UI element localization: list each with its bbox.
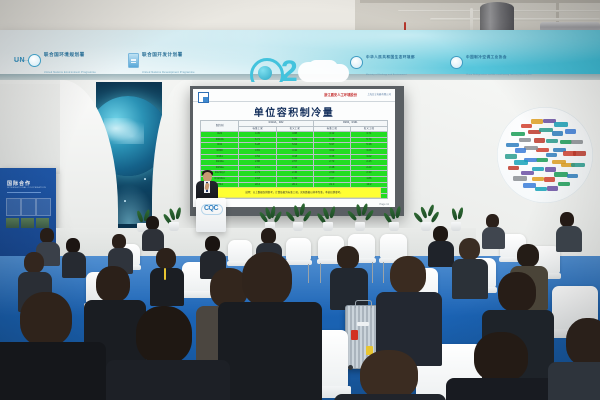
panel-title: 国际合作 bbox=[7, 180, 31, 187]
booth-header-banner: UN 联合国环境规划署 United Nations Environment P… bbox=[0, 30, 600, 82]
slide-header: 浙江盾安人工环境股份 上海日立电器有限公司 bbox=[193, 89, 395, 102]
ministry-name-en: Ministry of Ecology and Environment bbox=[366, 74, 407, 76]
association-name-cn: 中国制冷空调工业协会 bbox=[466, 55, 507, 59]
partner-logo-icon bbox=[567, 174, 578, 178]
plant-pot bbox=[169, 222, 179, 231]
potted-plant bbox=[290, 203, 306, 231]
partner-logo-icon bbox=[523, 183, 536, 187]
partner-logo-icon bbox=[521, 124, 532, 128]
partner-logo-icon bbox=[554, 122, 568, 126]
undp-logo-group: 联合国开发计划署 United Nations Development Prog… bbox=[128, 44, 195, 78]
table-head: 制冷剂 R410A、R32 R290、R161 标准工况 名义工况 标准工况 名… bbox=[201, 121, 388, 132]
partner-logo-icon bbox=[535, 187, 547, 191]
panel-text-block bbox=[36, 198, 51, 216]
booth-left-wall bbox=[0, 84, 60, 174]
partner-logo-icon bbox=[531, 119, 543, 123]
suitcase-sticker-red bbox=[351, 330, 358, 340]
ministry-logo-group: 中华人民共和国生态环境部 Ministry of Ecology and Env… bbox=[350, 46, 415, 80]
plant-pot bbox=[389, 222, 399, 231]
association-logo-group: 中国制冷空调工业协会 China Refrigeration and Air-c… bbox=[450, 46, 532, 80]
panel-divider bbox=[7, 192, 41, 193]
slide-corp-name-cn: 浙江盾安人工环境股份 bbox=[324, 92, 357, 97]
partner-logo-icon bbox=[524, 146, 538, 150]
panel-subtitle: INTERNATIONAL COOPERATION bbox=[7, 187, 46, 189]
panel-text-block bbox=[21, 198, 36, 216]
projection-screen-frame: 浙江盾安人工环境股份 上海日立电器有限公司 单位容积制冷量 制冷剂 R410A、… bbox=[190, 86, 404, 216]
partner-logo-icon bbox=[532, 167, 544, 171]
association-logo-icon bbox=[450, 56, 463, 69]
presentation-slide: 浙江盾安人工环境股份 上海日立电器有限公司 单位容积制冷量 制冷剂 R410A、… bbox=[193, 89, 395, 207]
panel-photo bbox=[36, 218, 49, 228]
cloud-icon bbox=[298, 62, 332, 82]
partner-logo-icon bbox=[532, 177, 544, 181]
suitcase-handle bbox=[355, 300, 372, 308]
partner-logo-icon bbox=[571, 163, 585, 167]
partner-logo-icon bbox=[514, 160, 528, 164]
partner-logo-icon bbox=[536, 158, 548, 162]
plant-pot bbox=[355, 222, 365, 231]
ministry-name-cn: 中华人民共和国生态环境部 bbox=[366, 55, 415, 59]
undp-name-en: United Nations Development Programme bbox=[142, 71, 195, 74]
un-emblem-icon bbox=[28, 54, 41, 67]
page-label: Page bbox=[380, 203, 386, 206]
plant-pot bbox=[421, 222, 431, 231]
un-logo-icon: UN bbox=[14, 57, 25, 64]
suitcase-wheel bbox=[348, 365, 353, 370]
partner-logo-icon bbox=[565, 129, 576, 133]
partner-logo-icon bbox=[521, 171, 534, 175]
lanyard bbox=[164, 268, 166, 280]
association-name-en: China Refrigeration and Air-conditioning… bbox=[466, 74, 532, 76]
unep-logo-group: UN 联合国环境规划署 United Nations Environment P… bbox=[14, 44, 96, 78]
partner-logo-wall bbox=[497, 107, 593, 203]
partner-logo-icon bbox=[552, 131, 563, 135]
o2o-digit: 2 bbox=[281, 57, 298, 82]
company-logo-icon bbox=[198, 92, 209, 103]
partner-logo-icon bbox=[515, 148, 526, 152]
partner-logo-icon bbox=[519, 138, 531, 142]
undp-logo-icon bbox=[128, 53, 139, 68]
slide-title: 单位容积制冷量 bbox=[193, 104, 395, 119]
panel-text-block bbox=[6, 198, 21, 216]
exhibition-presentation-photo: UN 联合国环境规划署 United Nations Environment P… bbox=[0, 0, 600, 400]
partner-logo-icon bbox=[539, 128, 553, 132]
partner-logo-icon bbox=[505, 154, 517, 158]
partner-logo-icon bbox=[546, 153, 557, 157]
partner-logo-icon bbox=[547, 186, 558, 190]
partner-logo-icon bbox=[546, 139, 558, 143]
potted-plant bbox=[448, 206, 464, 231]
panel-photo bbox=[21, 218, 34, 228]
partner-logo-icon bbox=[508, 166, 519, 170]
partner-logo-icon bbox=[506, 143, 519, 147]
partner-logo-icon bbox=[554, 172, 568, 176]
suitcase-sticker-white bbox=[357, 322, 369, 326]
potted-plant bbox=[166, 206, 182, 231]
unep-name-en: United Nations Environment Programme bbox=[44, 71, 96, 74]
unep-name-cn: 联合国环境规划署 bbox=[44, 52, 85, 57]
slide-note: 说明：以上数据仅供参考，计算依据为标准工况，实际数据以样本为准，本表仅供参考。 bbox=[207, 187, 381, 198]
slide-corp-name-en: 上海日立电器有限公司 bbox=[367, 92, 391, 96]
potted-plant bbox=[320, 205, 336, 231]
th-refrigerant: 制冷剂 bbox=[201, 121, 239, 132]
partner-logo-icon bbox=[544, 177, 555, 181]
plant-pot bbox=[451, 222, 461, 231]
panel-photo bbox=[6, 218, 19, 228]
plant-pot bbox=[293, 222, 303, 231]
ceiling-beam bbox=[360, 0, 600, 3]
potted-plant bbox=[352, 203, 368, 231]
partner-logo-icon bbox=[573, 151, 586, 155]
cqc-logo: CQC bbox=[199, 203, 223, 214]
ceiling-pipe bbox=[430, 18, 600, 21]
undp-name-cn: 联合国开发计划署 bbox=[142, 52, 183, 57]
partner-logo-icon bbox=[558, 182, 570, 186]
potted-plant bbox=[418, 204, 434, 231]
partner-logo-icon bbox=[513, 176, 527, 180]
partner-logo-icon bbox=[571, 140, 583, 144]
plant-pot bbox=[323, 222, 333, 231]
partner-logo-icon bbox=[534, 138, 545, 142]
partner-logo-icon bbox=[545, 167, 556, 171]
partner-logo-icon bbox=[511, 132, 525, 136]
ministry-emblem-icon bbox=[350, 56, 363, 69]
globe-icon bbox=[250, 58, 284, 82]
potted-plant bbox=[386, 205, 402, 231]
